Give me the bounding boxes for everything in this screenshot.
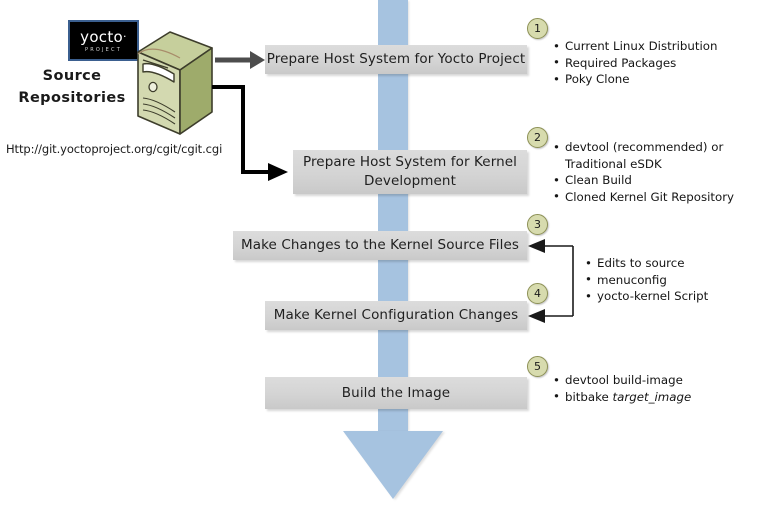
step-number: 2 — [534, 131, 541, 144]
yocto-logo-wordmark: yocto· — [80, 29, 127, 45]
note-item: bitbake target_image — [553, 389, 691, 406]
step-number: 3 — [534, 218, 541, 231]
yocto-logo-word-text: yocto — [80, 28, 123, 46]
yocto-project-logo: yocto· PROJECT — [68, 20, 139, 61]
process-box-make-kernel-source-changes[interactable]: Make Changes to the Kernel Source Files — [233, 231, 527, 260]
note-item: devtool build-image — [553, 372, 691, 389]
step-number: 4 — [534, 287, 541, 300]
step-badge-4: 4 — [527, 283, 548, 304]
note-item-prefix: bitbake — [565, 390, 613, 404]
process-box-build-image[interactable]: Build the Image — [265, 377, 527, 409]
process-box-label: Make Changes to the Kernel Source Files — [241, 236, 519, 255]
note-item: Cloned Kernel Git Repository — [553, 189, 734, 206]
note-item: menuconfig — [585, 272, 708, 289]
yocto-kernel-development-flow-diagram: yocto· PROJECT Source Repositories Http:… — [0, 0, 769, 517]
process-box-label: Build the Image — [342, 384, 450, 403]
source-repositories-label-line1: Source — [10, 65, 134, 87]
process-box-label: Prepare Host System for Kernel Developme… — [293, 153, 527, 191]
note-item: yocto-kernel Script — [585, 288, 708, 305]
note-item: devtool (recommended) or — [553, 139, 734, 156]
yocto-logo-subtitle: PROJECT — [85, 47, 122, 53]
note-item: Required Packages — [553, 55, 717, 72]
process-box-label: Make Kernel Configuration Changes — [274, 306, 518, 325]
yocto-logo-dot: · — [123, 30, 127, 43]
step-badge-3: 3 — [527, 214, 548, 235]
step-3-4-notes-list: Edits to source menuconfig yocto-kernel … — [585, 255, 708, 305]
source-repositories-label-line2: Repositories — [10, 87, 134, 109]
note-item-emphasis: target_image — [613, 390, 692, 404]
server-icon — [132, 30, 216, 138]
step-5-notes-list: devtool build-image bitbake target_image — [553, 372, 691, 405]
process-box-prepare-host-kernel[interactable]: Prepare Host System for Kernel Developme… — [293, 150, 527, 194]
process-box-make-kernel-config-changes[interactable]: Make Kernel Configuration Changes — [265, 301, 527, 330]
step-1-notes-list: Current Linux Distribution Required Pack… — [553, 38, 717, 88]
step-number: 1 — [534, 22, 541, 35]
source-repositories-url: Http://git.yoctoproject.org/cgit/cgit.cg… — [6, 142, 222, 156]
process-box-prepare-host-yocto[interactable]: Prepare Host System for Yocto Project — [265, 45, 527, 74]
step-number: 5 — [534, 360, 541, 373]
step-badge-5: 5 — [527, 356, 548, 377]
note-item: Edits to source — [585, 255, 708, 272]
note-item: Clean Build — [553, 172, 734, 189]
note-item: Current Linux Distribution — [553, 38, 717, 55]
source-repositories-label: Source Repositories — [10, 65, 134, 109]
note-item: Poky Clone — [553, 71, 717, 88]
step-badge-2: 2 — [527, 127, 548, 148]
step-2-notes-list: devtool (recommended) or Traditional eSD… — [553, 139, 734, 205]
note-item-continuation: Traditional eSDK — [553, 156, 734, 173]
step-badge-1: 1 — [527, 18, 548, 39]
process-box-label: Prepare Host System for Yocto Project — [267, 50, 526, 69]
flow-arrowhead-icon — [343, 431, 443, 499]
